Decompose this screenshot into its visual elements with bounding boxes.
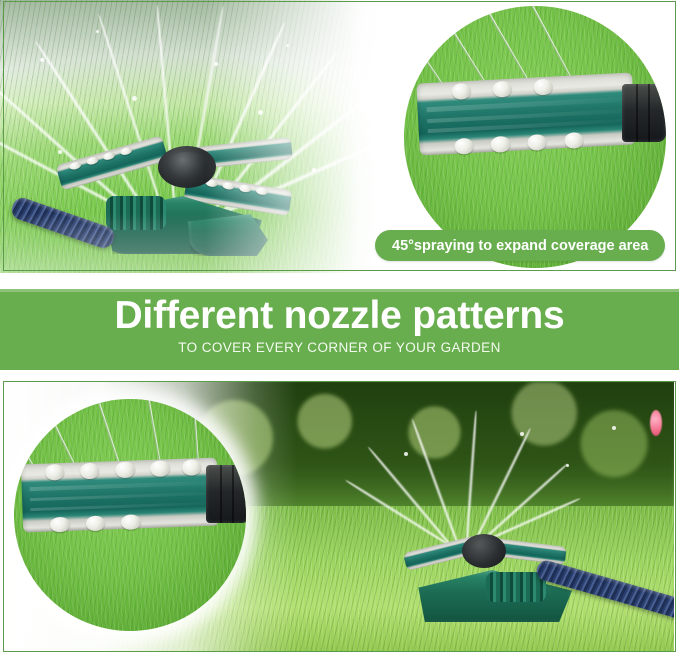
headline-banner: Different nozzle patterns TO COVER EVERY… [0,289,679,370]
banner-top-highlight [0,289,679,292]
nozzle-port [490,136,510,153]
bottom-panel: 3 adjustable coverage modes [0,381,679,653]
hose-coupler [486,572,546,602]
water-droplet [612,426,616,430]
water-droplet [96,30,99,33]
water-droplet [520,432,524,436]
nozzle-cap-ring [232,465,234,523]
top-panel: 45°spraying to expand coverage area [0,0,679,273]
photo-right-fade [205,0,380,273]
nozzle-cap-ring [636,84,638,142]
page-title: Different nozzle patterns [114,293,564,339]
pink-flower [650,410,662,436]
product-feature-image: 45°spraying to expand coverage area Diff… [0,0,679,659]
water-droplet [58,150,62,154]
water-droplet [40,58,44,62]
rotating-hub [462,534,506,568]
nozzle-end-cap [622,84,666,142]
page-subtitle: TO COVER EVERY CORNER OF YOUR GARDEN [178,339,500,357]
nozzle-icon [416,72,635,155]
water-droplet [404,452,408,456]
rotating-hub-cap [166,152,208,178]
water-droplet [132,96,137,101]
nozzle-closeup-inset-45deg [404,6,666,268]
nozzle-end-cap [206,465,246,523]
nozzle-icon [21,458,219,533]
nozzle-cap-ring [648,84,650,142]
callout-45-degree-spray: 45°spraying to expand coverage area [375,230,665,261]
water-droplet [566,464,569,467]
nozzle-cap-ring [220,465,222,523]
sprinkler-wide-spray-photo [0,0,380,273]
nozzle-closeup-inset-modes [14,399,246,631]
